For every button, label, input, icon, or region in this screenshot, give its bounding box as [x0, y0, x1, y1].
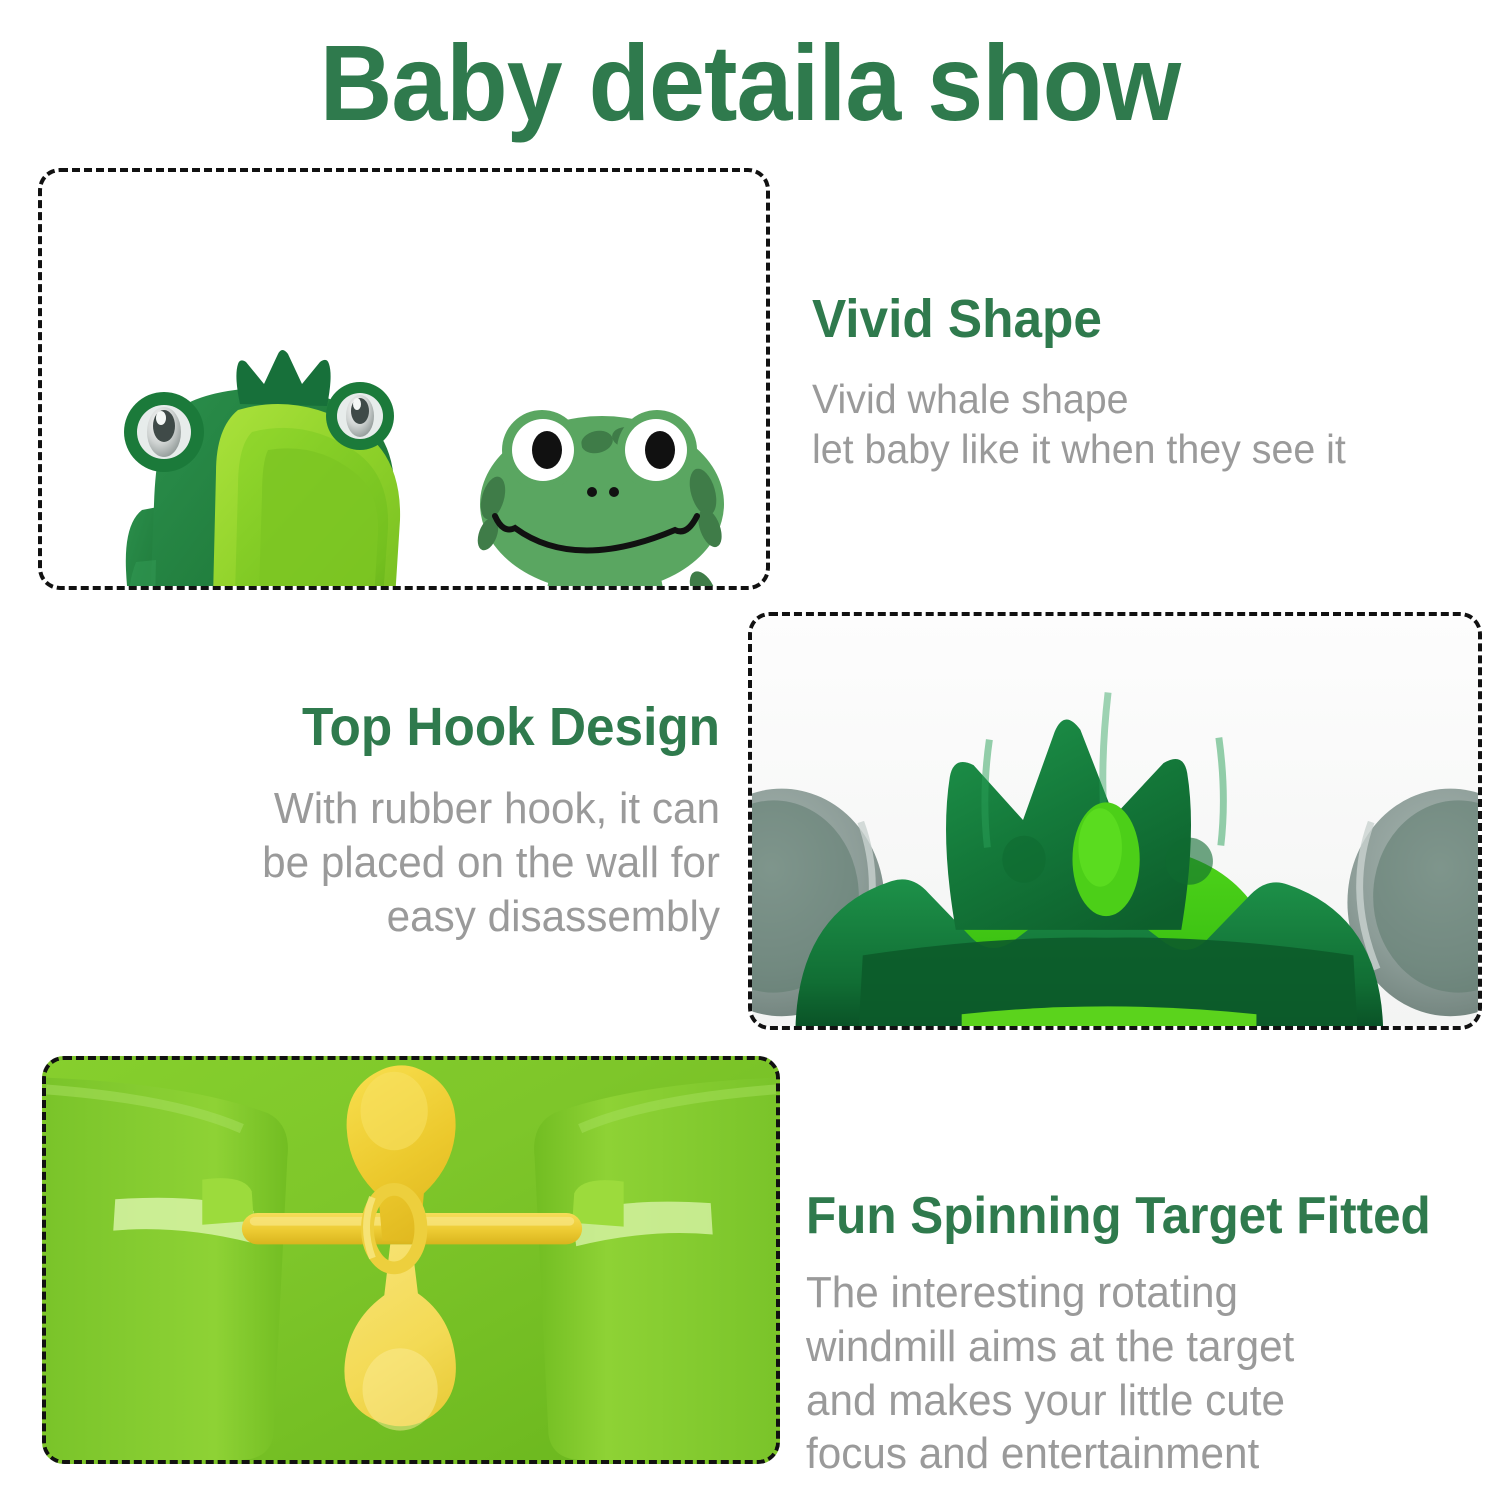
feature-text-top-hook-design: Top Hook Design With rubber hook, it can…: [60, 698, 720, 943]
frog-potty-urinal-image: [112, 350, 442, 590]
feature-image-panel-top-hook-design: [748, 612, 1482, 1030]
feature-text-fun-spinning-target: Fun Spinning Target Fitted The interesti…: [806, 1188, 1496, 1481]
feature-image-panel-vivid-shape: [38, 168, 770, 590]
page-title: Baby detaila show: [53, 26, 1448, 139]
feature-text-vivid-shape: Vivid Shape Vivid whale shape let baby l…: [812, 290, 1492, 474]
feature-image-panel-fun-spinning-target: [42, 1056, 780, 1464]
windmill-spinner-closeup-image: [46, 1060, 776, 1460]
feature-body-vivid-shape: Vivid whale shape let baby like it when …: [812, 374, 1465, 474]
frog-right-eye: [326, 382, 394, 450]
feature-heading-fun-spinning-target: Fun Spinning Target Fitted: [806, 1188, 1462, 1244]
feature-heading-vivid-shape: Vivid Shape: [812, 290, 1458, 348]
feature-body-fun-spinning-target: The interesting rotating windmill aims a…: [806, 1266, 1468, 1481]
cartoon-frog-illustration: [447, 394, 757, 590]
feature-heading-top-hook-design: Top Hook Design: [93, 698, 720, 756]
crown-hook-closeup-image: [752, 616, 1478, 1026]
feature-body-top-hook-design: With rubber hook, it can be placed on th…: [86, 782, 720, 943]
frog-left-eye: [124, 392, 204, 472]
